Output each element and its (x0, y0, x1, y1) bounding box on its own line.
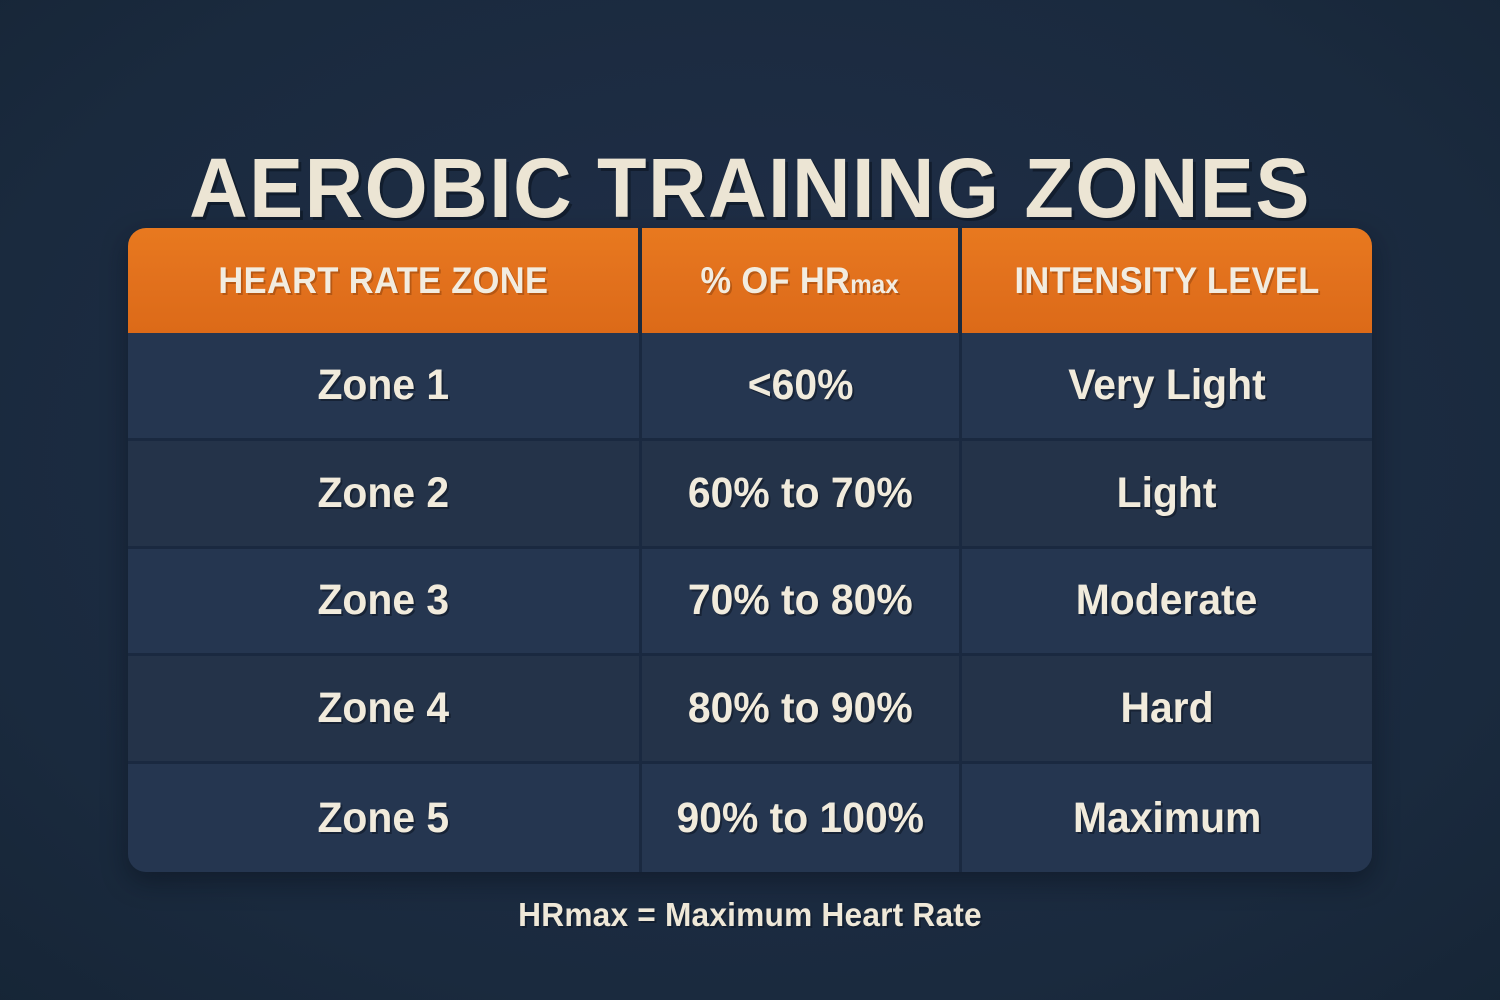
cell-intensity: Maximum (962, 764, 1372, 872)
column-header-label: INTENSITY LEVEL (1014, 260, 1319, 301)
intensity-label: Moderate (1076, 576, 1258, 625)
percent-label: 70% to 80% (688, 576, 913, 625)
zone-label: Zone 5 (318, 794, 450, 843)
page-title: AEROBIC TRAINING ZONES (26, 140, 1474, 236)
cell-zone: Zone 4 (128, 656, 642, 764)
zone-label: Zone 3 (318, 576, 450, 625)
table-row: Zone 3 70% to 80% Moderate (128, 549, 1372, 657)
cell-percent: <60% (642, 333, 962, 441)
column-header-intensity-level: INTENSITY LEVEL (962, 228, 1372, 333)
table-row: Zone 1 <60% Very Light (128, 333, 1372, 441)
cell-zone: Zone 2 (128, 441, 642, 549)
cell-zone: Zone 3 (128, 549, 642, 657)
cell-percent: 60% to 70% (642, 441, 962, 549)
cell-intensity: Hard (962, 656, 1372, 764)
zone-label: Zone 2 (318, 469, 450, 518)
zone-label: Zone 1 (318, 361, 450, 410)
cell-intensity: Moderate (962, 549, 1372, 657)
training-zones-table: HEART RATE ZONE % OF HRmax INTENSITY LEV… (128, 228, 1372, 872)
column-header-subscript: max (851, 269, 899, 299)
intensity-label: Hard (1120, 684, 1213, 733)
cell-percent: 80% to 90% (642, 656, 962, 764)
intensity-label: Very Light (1068, 361, 1265, 410)
cell-intensity: Light (962, 441, 1372, 549)
column-header-percent-hrmax: % OF HRmax (642, 228, 962, 333)
cell-zone: Zone 5 (128, 764, 642, 872)
percent-label: 80% to 90% (688, 684, 913, 733)
table-row: Zone 4 80% to 90% Hard (128, 656, 1372, 764)
percent-label: <60% (748, 361, 854, 410)
percent-label: 90% to 100% (677, 794, 925, 843)
cell-zone: Zone 1 (128, 333, 642, 441)
column-header-label: % OF HR (701, 260, 851, 301)
zone-label: Zone 4 (318, 684, 450, 733)
table-row: Zone 5 90% to 100% Maximum (128, 764, 1372, 872)
table-row: Zone 2 60% to 70% Light (128, 441, 1372, 549)
intensity-label: Light (1117, 469, 1217, 518)
cell-percent: 90% to 100% (642, 764, 962, 872)
poster-canvas: AEROBIC TRAINING ZONES HEART RATE ZONE %… (0, 0, 1500, 1000)
cell-percent: 70% to 80% (642, 549, 962, 657)
table-header-row: HEART RATE ZONE % OF HRmax INTENSITY LEV… (128, 228, 1372, 333)
column-header-heart-rate-zone: HEART RATE ZONE (128, 228, 642, 333)
column-header-label: HEART RATE ZONE (218, 260, 548, 301)
percent-label: 60% to 70% (688, 469, 913, 518)
cell-intensity: Very Light (962, 333, 1372, 441)
footnote-hrmax-definition: HRmax = Maximum Heart Rate (30, 893, 1470, 937)
intensity-label: Maximum (1073, 794, 1261, 843)
